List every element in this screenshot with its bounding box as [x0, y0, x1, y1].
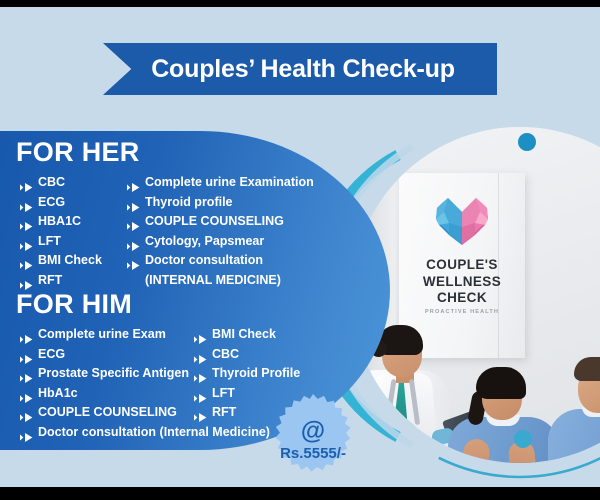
low-poly-heart-icon — [434, 195, 490, 245]
list-item-label: Complete urine Exam — [38, 327, 166, 341]
list-item-label: HbA1c — [38, 386, 78, 400]
double-triangle-bullet-icon — [20, 199, 34, 208]
list-item: Thyroid Profile — [192, 364, 300, 384]
title-ribbon: Couples’ Health Check-up — [103, 43, 497, 95]
man-patient-figure — [548, 355, 600, 463]
double-triangle-bullet-icon — [20, 179, 34, 188]
list-item-label: Doctor consultation (Internal Medicine) — [38, 425, 270, 439]
list-item-label: CBC — [212, 347, 239, 361]
double-triangle-bullet-icon — [20, 238, 34, 247]
poster-title: COUPLE'S WELLNESS CHECK — [399, 257, 525, 307]
woman-hair — [476, 367, 526, 399]
list-item-label: HBA1C — [38, 214, 81, 228]
poster-title-line-2: WELLNESS — [423, 274, 501, 289]
double-triangle-bullet-icon — [194, 370, 208, 379]
flyer-title: Couples’ Health Check-up — [103, 43, 497, 95]
list-item-label: LFT — [212, 386, 235, 400]
list-item: ECG — [18, 193, 102, 213]
promo-flyer: COUPLE'S WELLNESS CHECK PROACTIVE HEALTH — [0, 0, 600, 500]
list-item: COUPLE COUNSELING — [125, 212, 314, 232]
list-item-label: ECG — [38, 195, 65, 209]
double-triangle-bullet-icon — [194, 351, 208, 360]
list-item-label: Prostate Specific Antigen — [38, 366, 189, 380]
flyer-background: COUPLE'S WELLNESS CHECK PROACTIVE HEALTH — [0, 7, 600, 487]
double-triangle-bullet-icon — [127, 238, 141, 247]
double-triangle-bullet-icon — [127, 199, 141, 208]
price-amount: Rs.5555/- — [280, 445, 346, 463]
list-item: CBC — [192, 345, 300, 365]
list-item-label: Complete urine Examination — [145, 175, 314, 189]
list-item: BMI Check — [18, 251, 102, 271]
list-item-continuation: (INTERNAL MEDICINE) — [125, 271, 314, 291]
list-item-label: Cytology, Papsmear — [145, 234, 264, 248]
top-letterbox-strip — [0, 0, 600, 7]
double-triangle-bullet-icon — [127, 218, 141, 227]
double-triangle-bullet-icon — [194, 331, 208, 340]
price-badge: @ Rs.5555/- — [266, 393, 360, 487]
list-item-label: RFT — [38, 273, 62, 287]
list-item: CBC — [18, 173, 102, 193]
list-item: Doctor consultation (Internal Medicine) — [18, 423, 270, 443]
list-item-label: Thyroid Profile — [212, 366, 300, 380]
double-triangle-bullet-icon — [20, 370, 34, 379]
bottom-letterbox-strip — [0, 487, 600, 500]
double-triangle-bullet-icon — [20, 390, 34, 399]
for-her-heading: FOR HER — [16, 137, 140, 168]
list-item-label: Thyroid profile — [145, 195, 233, 209]
for-him-heading: FOR HIM — [16, 289, 132, 320]
double-triangle-bullet-icon — [127, 179, 141, 188]
list-item-label: CBC — [38, 175, 65, 189]
list-item: Doctor consultation — [125, 251, 314, 271]
double-triangle-bullet-icon — [20, 218, 34, 227]
price-badge-text: @ Rs.5555/- — [266, 393, 360, 487]
list-item-label: (INTERNAL MEDICINE) — [145, 271, 314, 291]
stethoscope-bell — [389, 422, 400, 433]
list-item: BMI Check — [192, 325, 300, 345]
list-item-label: COUPLE COUNSELING — [38, 405, 177, 419]
list-item-label: BMI Check — [212, 327, 276, 341]
list-item: HBA1C — [18, 212, 102, 232]
list-item: Complete urine Examination — [125, 173, 314, 193]
poster-title-line-1: COUPLE'S — [426, 257, 498, 272]
double-triangle-bullet-icon — [194, 409, 208, 418]
double-triangle-bullet-icon — [20, 277, 34, 286]
list-item-label: RFT — [212, 405, 236, 419]
poster-title-line-3: CHECK — [437, 290, 487, 305]
double-triangle-bullet-icon — [194, 390, 208, 399]
double-triangle-bullet-icon — [20, 257, 34, 266]
list-item: Thyroid profile — [125, 193, 314, 213]
list-item-label: COUPLE COUNSELING — [145, 214, 284, 228]
at-symbol: @ — [301, 419, 325, 443]
double-triangle-bullet-icon — [20, 409, 34, 418]
man-hair — [574, 357, 600, 381]
man-hospital-gown — [548, 409, 600, 463]
double-triangle-bullet-icon — [20, 351, 34, 360]
list-item-label: ECG — [38, 347, 65, 361]
double-triangle-bullet-icon — [20, 331, 34, 340]
for-her-list-column-2: Complete urine Examination Thyroid profi… — [125, 173, 314, 291]
list-item: LFT — [18, 232, 102, 252]
list-item-label: LFT — [38, 234, 61, 248]
list-item: RFT — [18, 271, 102, 291]
list-item-label: BMI Check — [38, 253, 102, 267]
list-item-label: Doctor consultation — [145, 253, 263, 267]
list-item: Cytology, Papsmear — [125, 232, 314, 252]
double-triangle-bullet-icon — [127, 257, 141, 266]
double-triangle-bullet-icon — [20, 429, 34, 438]
for-her-list-column-1: CBC ECG HBA1C — [18, 173, 102, 291]
poster-subtitle: PROACTIVE HEALTH — [399, 309, 525, 315]
